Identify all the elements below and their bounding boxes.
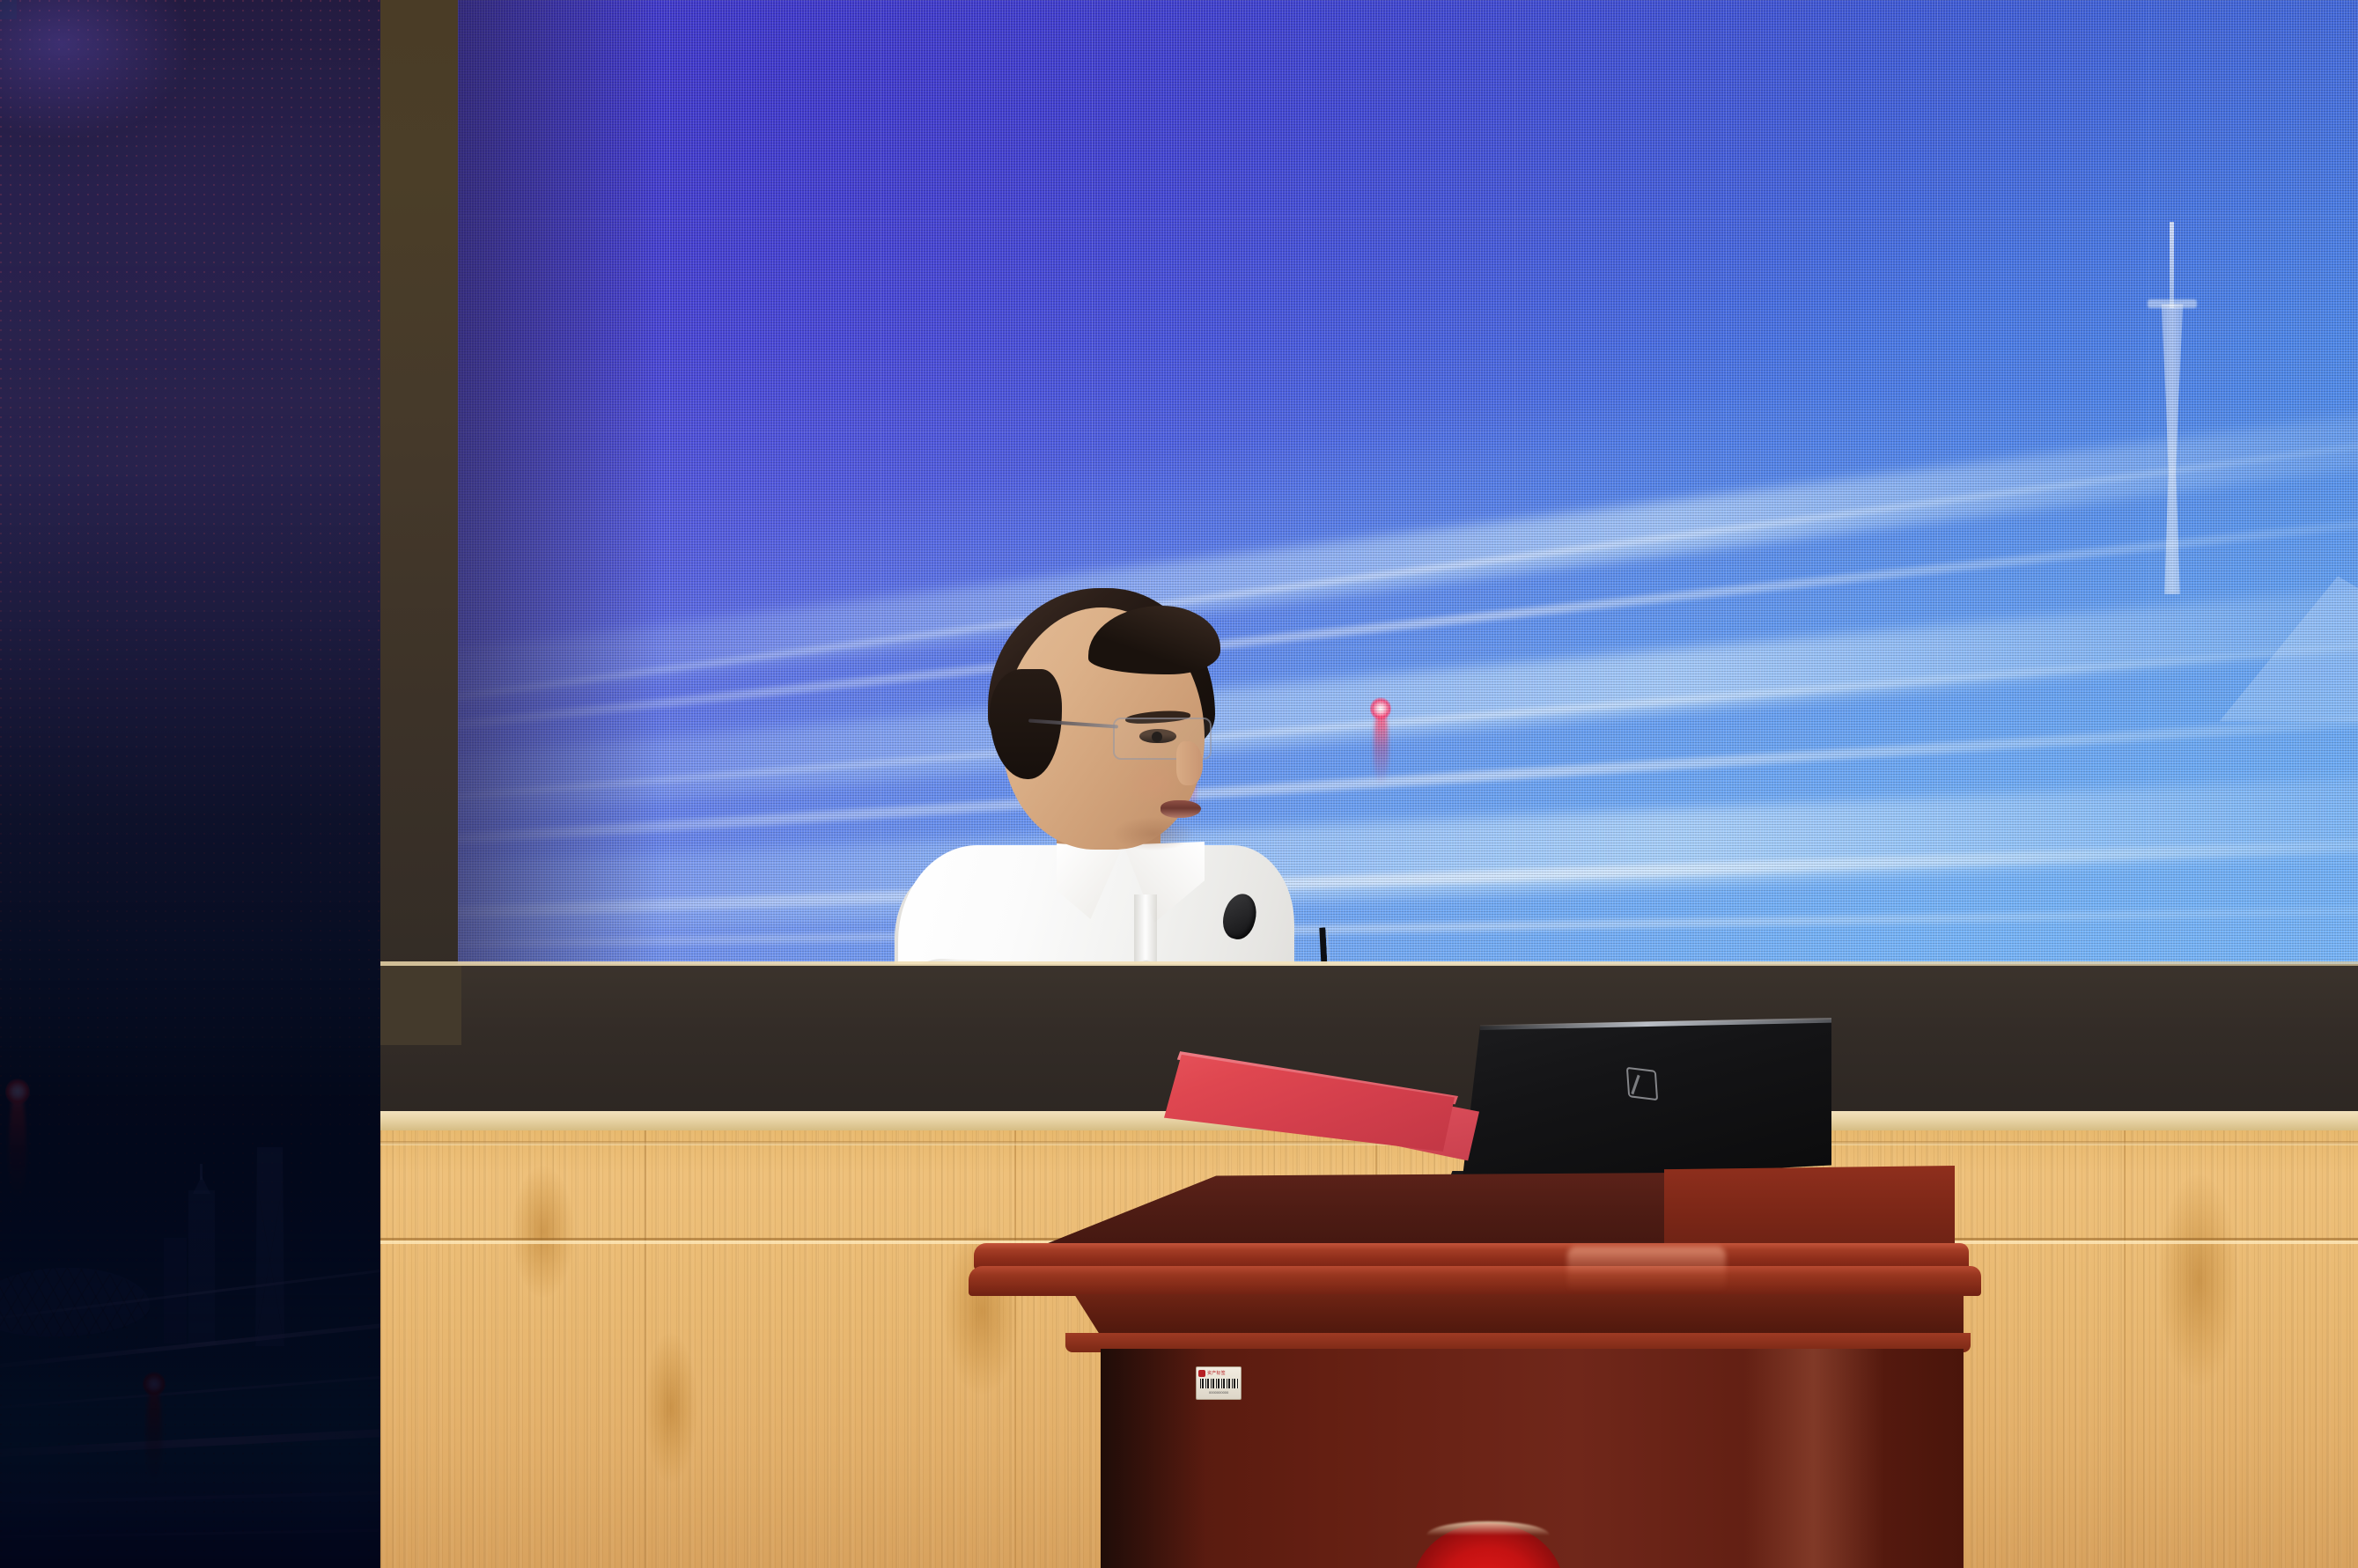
panel-seam bbox=[2124, 1130, 2126, 1568]
lectern-front-gloss bbox=[1743, 1349, 1884, 1568]
chin-shadow bbox=[1113, 817, 1194, 850]
side-led-panel bbox=[0, 0, 380, 1568]
wall-dark-band-corner bbox=[380, 964, 461, 1045]
lectern-front-shadow bbox=[1101, 1349, 1206, 1568]
asset-tag-barcode-icon bbox=[1200, 1379, 1239, 1388]
mouth bbox=[1161, 800, 1201, 818]
wood-grain-knot bbox=[512, 1166, 574, 1298]
panel-shading bbox=[0, 0, 380, 1568]
lectern-molding-gloss bbox=[1567, 1247, 1726, 1292]
wooden-lectern: 资产标签 0000000000 bbox=[969, 1171, 2016, 1568]
asset-tag-number: 0000000000 bbox=[1209, 1390, 1228, 1395]
panel-seam bbox=[645, 1130, 646, 1568]
wood-grain-knot bbox=[2159, 1174, 2238, 1386]
conference-photo-scene: 资产标签 0000000000 A man in a white dress s… bbox=[0, 0, 2358, 1568]
nose bbox=[1176, 741, 1203, 785]
wall-strip-between-screens bbox=[380, 0, 458, 986]
wall-band-top-highlight bbox=[380, 961, 2358, 966]
screen-left-vignette bbox=[458, 0, 660, 990]
wood-grain-knot bbox=[645, 1333, 697, 1483]
asset-tag-label: 资产标签 0000000000 bbox=[1196, 1366, 1242, 1400]
asset-tag-title: 资产标签 bbox=[1207, 1370, 1226, 1376]
laptop-brand-logo-icon bbox=[1626, 1067, 1658, 1101]
lectern-molding-lower bbox=[969, 1266, 1981, 1296]
asset-tag-logo-icon bbox=[1198, 1370, 1205, 1377]
presentation-laptop[interactable] bbox=[1462, 1020, 1831, 1185]
